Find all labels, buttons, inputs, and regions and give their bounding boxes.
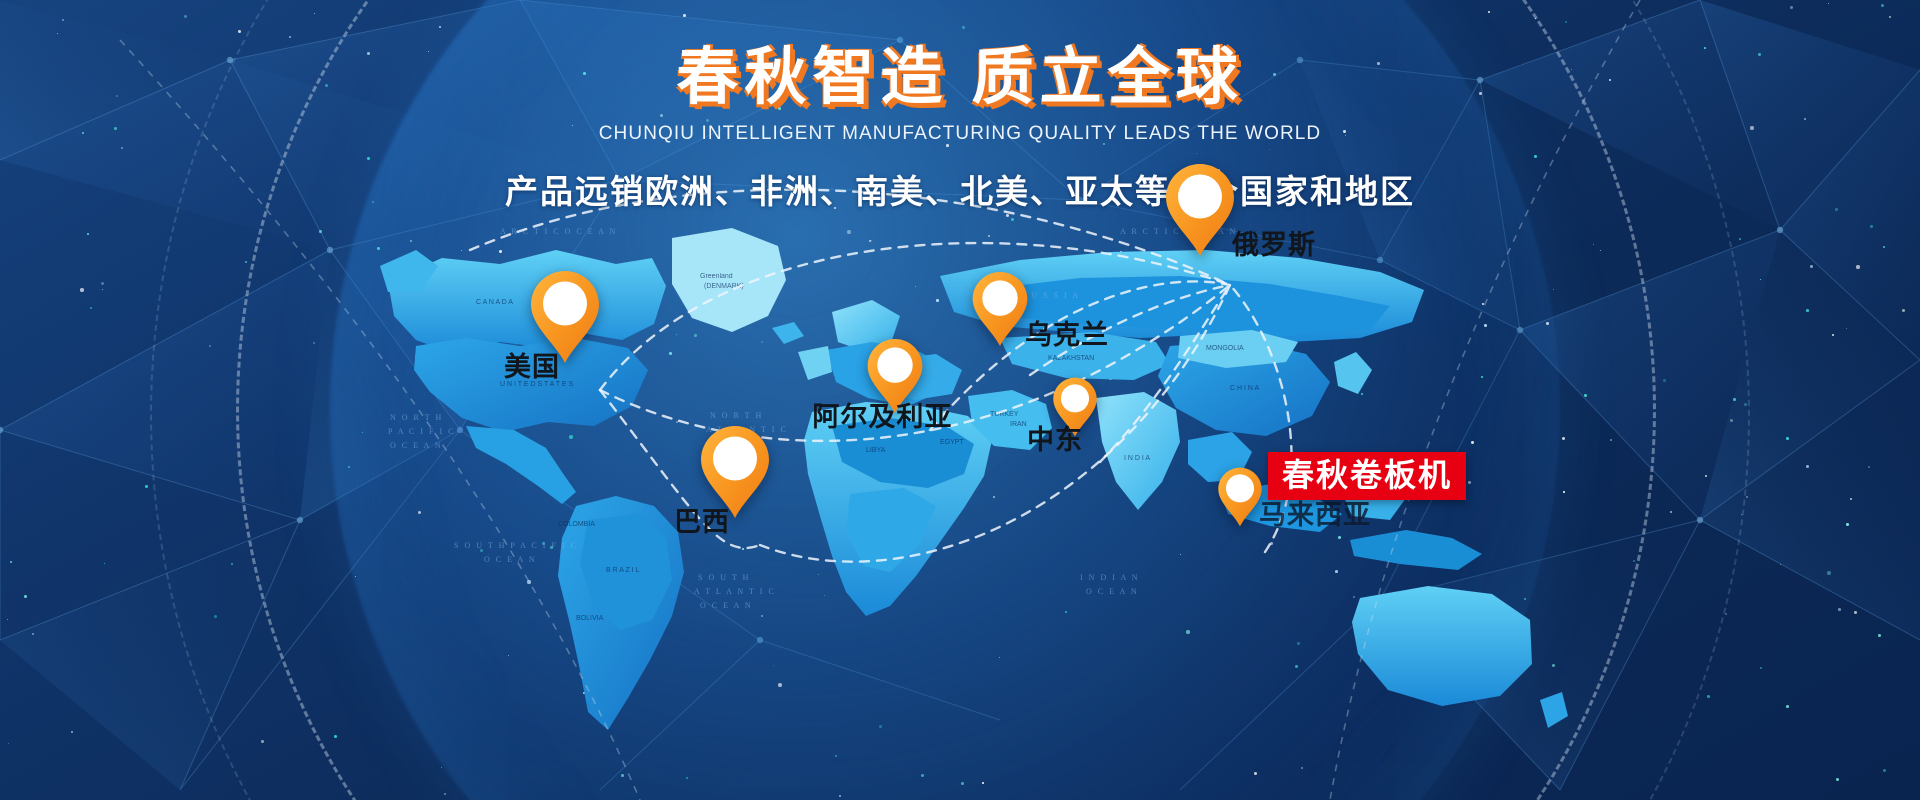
location-pin-icon [971, 270, 1029, 348]
map-marker-label: 乌克兰 [1025, 313, 1109, 352]
map-marker-brazil[interactable]: 巴西 [699, 424, 771, 520]
map-marker-label: 巴西 [674, 500, 730, 539]
map-marker-label: 中东 [1027, 418, 1083, 457]
map-marker-label: 俄罗斯 [1232, 223, 1316, 262]
map-marker-algeria[interactable]: 阿尔及利亚 [866, 337, 924, 415]
product-badge[interactable]: 春秋卷板机 [1268, 452, 1466, 500]
map-marker-label: 阿尔及利亚 [812, 395, 952, 434]
location-pin-icon [1217, 466, 1263, 528]
map-marker-usa[interactable]: 美国 [529, 269, 601, 365]
map-marker-label: 美国 [504, 345, 560, 384]
map-marker-russia[interactable]: 俄罗斯 [1164, 162, 1236, 258]
location-pin-icon [1164, 162, 1236, 258]
headline-block: 春秋智造 质立全球 CHUNQIU INTELLIGENT MANUFACTUR… [0, 46, 1920, 213]
page-subtitle-cn: 产品远销欧洲、非洲、南美、北美、亚太等多个国家和地区 [0, 165, 1920, 213]
map-marker-malaysia[interactable]: 马来西亚 [1217, 466, 1263, 528]
banner-stage: Greenland (DENMARK) C A N A D A U N I T … [0, 0, 1920, 800]
page-title: 春秋智造 质立全球 [0, 46, 1920, 109]
page-subtitle-en: CHUNQIU INTELLIGENT MANUFACTURING QUALIT… [0, 123, 1920, 145]
map-marker-middleeast[interactable]: 中东 [1052, 376, 1098, 438]
map-marker-ukraine[interactable]: 乌克兰 [971, 270, 1029, 348]
